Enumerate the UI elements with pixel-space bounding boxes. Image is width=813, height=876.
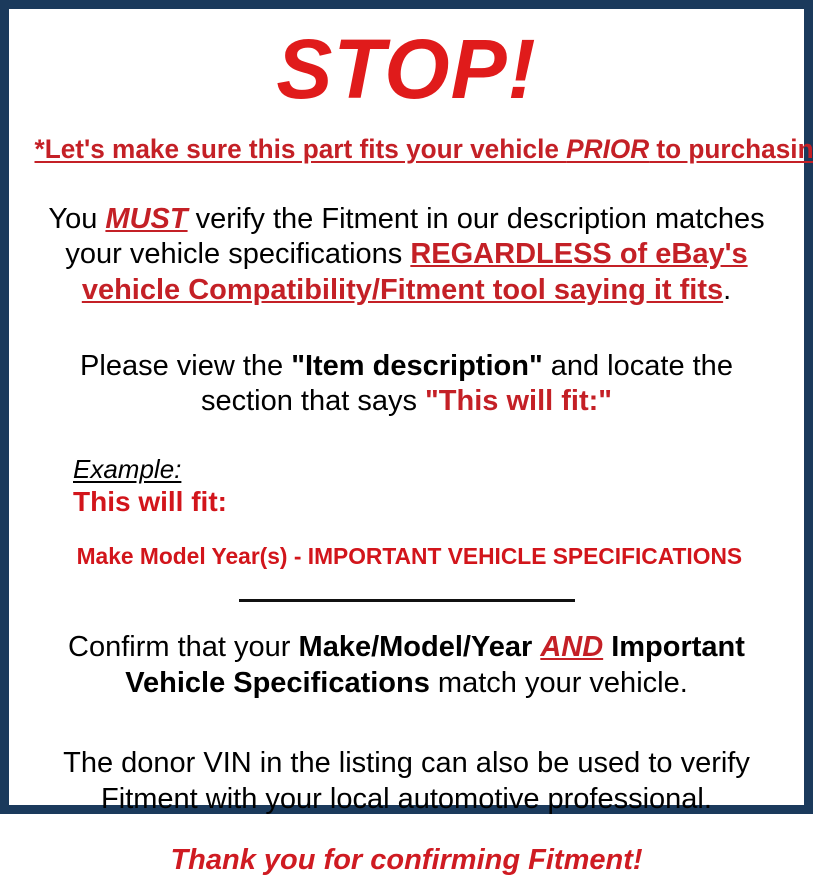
subtitle-line: *Let's make sure this part fits your veh… <box>35 111 779 165</box>
divider-wrapper <box>23 569 790 602</box>
donor-vin-paragraph: The donor VIN in the listing can also be… <box>23 701 790 817</box>
must-emphasis: MUST <box>105 203 187 235</box>
verify-period: . <box>723 274 731 306</box>
example-label-row: Example: <box>73 455 790 485</box>
confirm-segment-1: Confirm that your <box>68 631 298 663</box>
make-model-year-emphasis: Make/Model/Year <box>299 631 533 663</box>
example-block: Example: This will fit: Make Model Year(… <box>23 420 790 569</box>
confirm-paragraph: Confirm that your Make/Model/Year AND Im… <box>23 602 790 701</box>
subtitle-tail: to purchasing* <box>649 134 813 164</box>
view-segment-1: Please view the <box>80 350 291 382</box>
example-label: Example: <box>73 455 181 485</box>
view-description-paragraph: Please view the "Item description" and l… <box>23 309 790 420</box>
this-will-fit-quote: "This will fit:" <box>425 385 612 417</box>
stop-heading: STOP! <box>23 9 790 111</box>
verify-fitment-paragraph: You MUST verify the Fitment in our descr… <box>23 165 790 309</box>
thank-you-line: Thank you for confirming Fitment! <box>23 818 790 876</box>
subtitle-lead: *Let's make sure this part fits your veh… <box>35 134 567 164</box>
fitment-warning-banner: STOP! *Let's make sure this part fits yo… <box>0 0 813 814</box>
confirm-segment-2: match your vehicle. <box>430 667 688 699</box>
and-emphasis: AND <box>540 631 603 663</box>
subtitle-emphasis-prior: PRIOR <box>566 134 649 164</box>
example-fit-header: This will fit: <box>73 485 790 518</box>
banner-content: STOP! *Let's make sure this part fits yo… <box>9 9 804 805</box>
verify-segment-1: You <box>48 203 105 235</box>
example-spec-line: Make Model Year(s) - IMPORTANT VEHICLE S… <box>77 518 787 569</box>
item-description-emphasis: "Item description" <box>291 350 542 382</box>
